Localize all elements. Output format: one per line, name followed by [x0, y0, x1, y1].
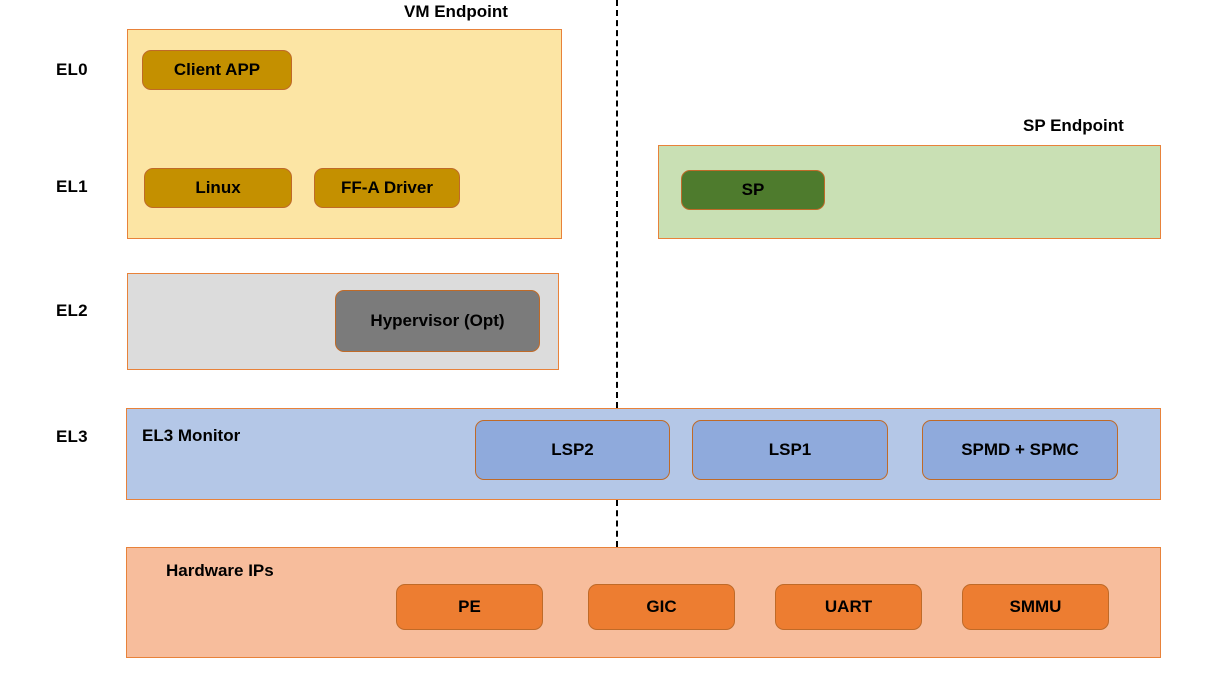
component-spmd-spmc[interactable]: SPMD + SPMC — [922, 420, 1118, 480]
component-lsp2[interactable]: LSP2 — [475, 420, 670, 480]
sp-endpoint-caption: SP Endpoint — [1023, 116, 1124, 136]
component-pe-label: PE — [458, 597, 481, 617]
secure-world-divider-upper — [616, 0, 618, 408]
component-lsp1[interactable]: LSP1 — [692, 420, 888, 480]
component-uart-label: UART — [825, 597, 872, 617]
component-linux-label: Linux — [195, 178, 240, 198]
component-spmd-spmc-label: SPMD + SPMC — [961, 440, 1079, 460]
exception-level-label-el0: EL0 — [56, 60, 88, 80]
component-sp[interactable]: SP — [681, 170, 825, 210]
secure-world-divider-lower — [616, 500, 618, 547]
component-gic-label: GIC — [646, 597, 676, 617]
component-pe[interactable]: PE — [396, 584, 543, 630]
component-sp-label: SP — [742, 180, 765, 200]
hardware-ips-title: Hardware IPs — [166, 561, 274, 581]
exception-level-label-el1: EL1 — [56, 177, 88, 197]
component-ffa-driver[interactable]: FF-A Driver — [314, 168, 460, 208]
component-client-app-label: Client APP — [174, 60, 260, 80]
component-smmu[interactable]: SMMU — [962, 584, 1109, 630]
component-linux[interactable]: Linux — [144, 168, 292, 208]
component-client-app[interactable]: Client APP — [142, 50, 292, 90]
exception-level-label-el3: EL3 — [56, 427, 88, 447]
component-ffa-driver-label: FF-A Driver — [341, 178, 433, 198]
el3-monitor-title: EL3 Monitor — [142, 426, 240, 446]
exception-level-label-el2: EL2 — [56, 301, 88, 321]
component-hypervisor-label: Hypervisor (Opt) — [370, 311, 504, 331]
vm-endpoint-caption: VM Endpoint — [404, 2, 508, 22]
component-gic[interactable]: GIC — [588, 584, 735, 630]
component-smmu-label: SMMU — [1010, 597, 1062, 617]
architecture-diagram: EL0 EL1 EL2 EL3 VM Endpoint Client APP L… — [0, 0, 1211, 698]
component-uart[interactable]: UART — [775, 584, 922, 630]
component-lsp1-label: LSP1 — [769, 440, 812, 460]
component-lsp2-label: LSP2 — [551, 440, 594, 460]
component-hypervisor[interactable]: Hypervisor (Opt) — [335, 290, 540, 352]
